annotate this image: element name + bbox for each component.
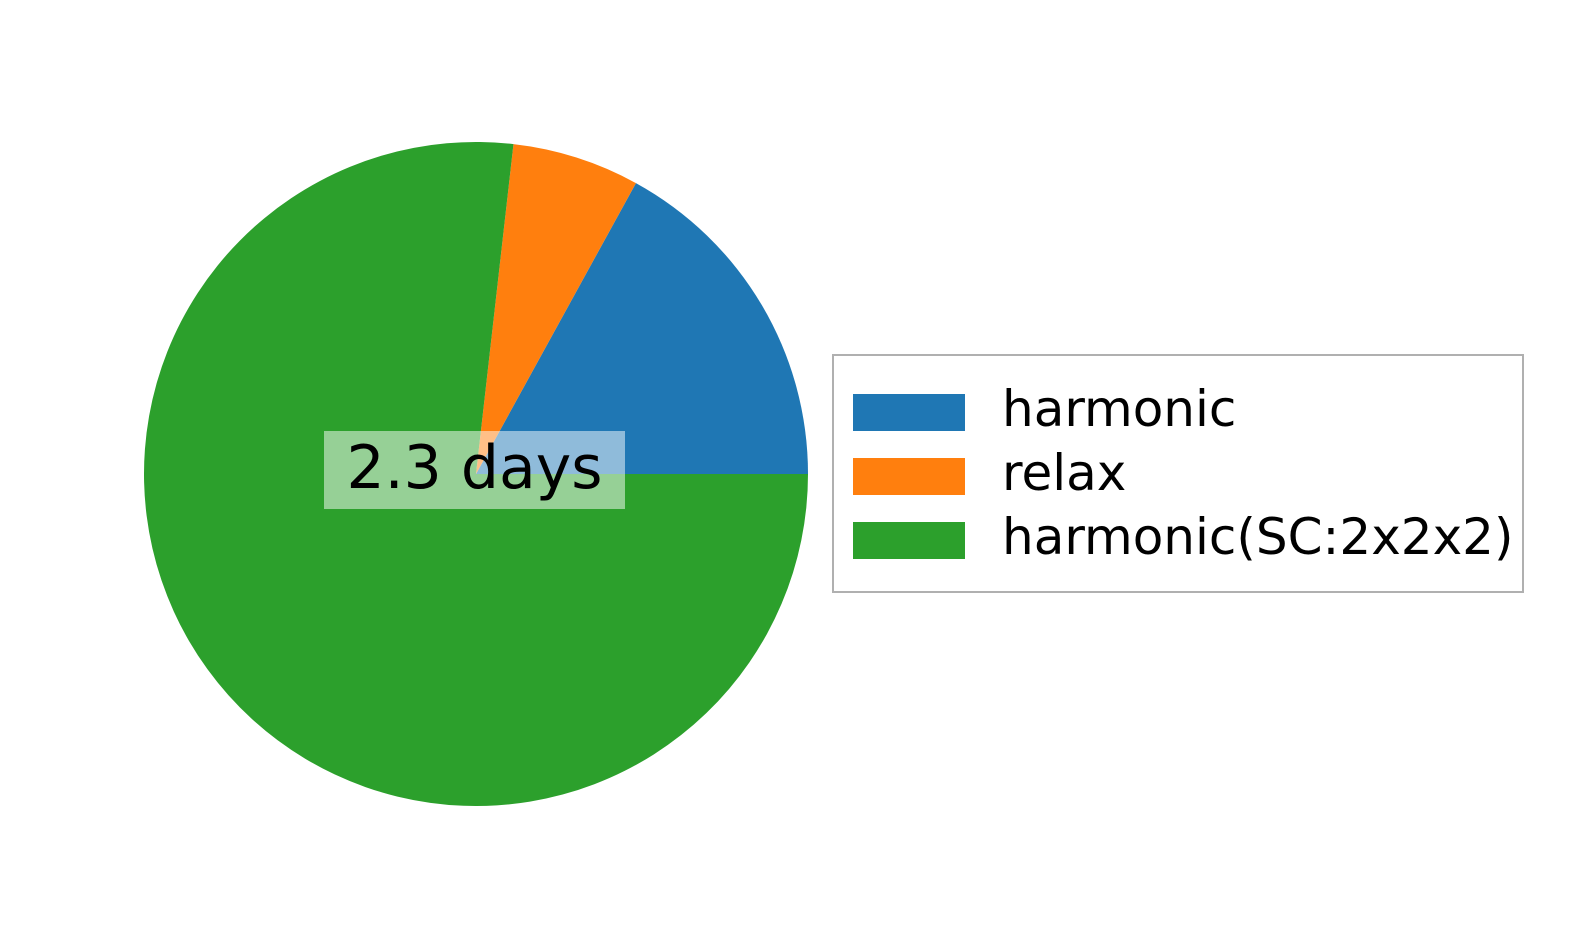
figure-canvas: 2.3 days harmonic relax harmonic(SC:2x2x…	[0, 0, 1584, 951]
legend-swatch-harmonic	[853, 394, 965, 431]
legend-entry-relax[interactable]: relax	[834, 444, 1522, 508]
pie-center-label: 2.3 days	[324, 431, 625, 509]
legend-label-harmonic: harmonic	[1002, 384, 1236, 440]
legend-label-relax: relax	[1002, 448, 1126, 504]
legend-entry-harmonic[interactable]: harmonic	[834, 380, 1522, 444]
legend-box: harmonic relax harmonic(SC:2x2x2)	[832, 354, 1524, 593]
pie-center-label-text: 2.3 days	[346, 438, 602, 502]
legend-swatch-harmonic-sc222	[853, 522, 965, 559]
legend-entry-harmonic-sc222[interactable]: harmonic(SC:2x2x2)	[834, 508, 1522, 572]
legend-label-harmonic-sc222: harmonic(SC:2x2x2)	[1002, 512, 1514, 568]
legend-swatch-relax	[853, 458, 965, 495]
